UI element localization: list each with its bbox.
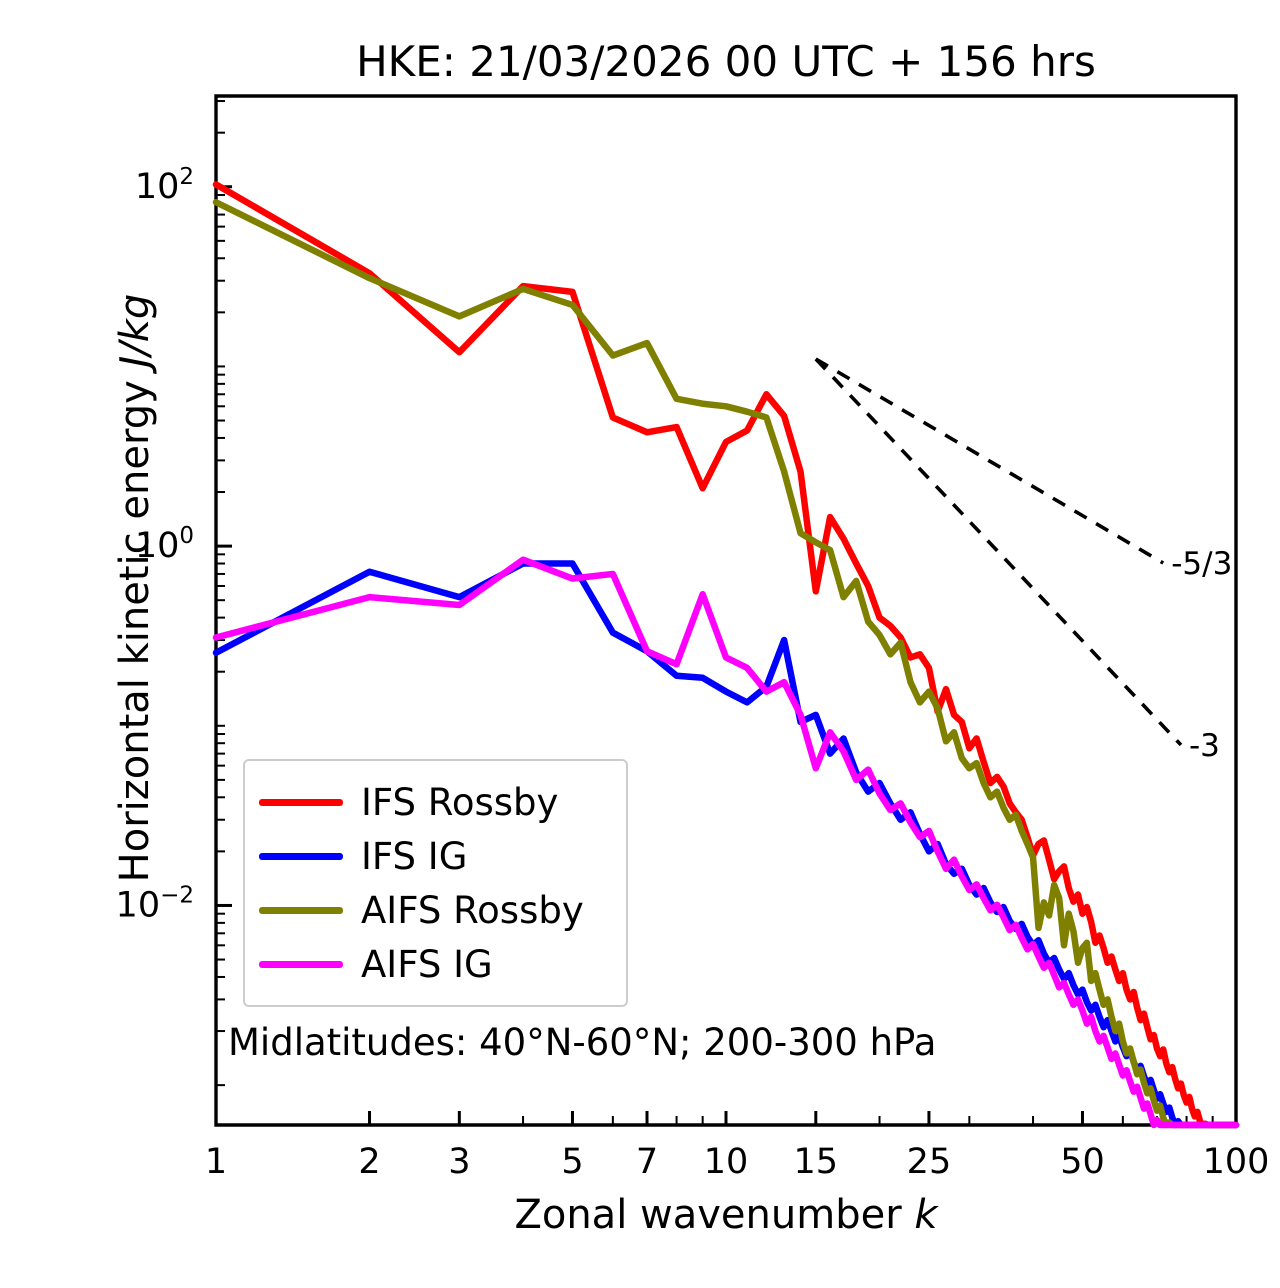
x-tick-label: 10 [704,1142,749,1182]
x-tick-label: 15 [794,1142,839,1182]
y-axis-label-main: Horizontal kinetic energy [112,368,158,883]
y-axis-label: Horizontal kinetic energy J/kg [112,148,158,1028]
slope-line--5-3 [816,359,1163,563]
chart-plot: 123571015255010010210010−2-5/3-3 [0,0,1280,1288]
x-tick-label: 7 [636,1142,658,1182]
legend-swatch-ifs-ig [259,853,343,860]
x-tick-label: 2 [358,1142,380,1182]
legend-label-ifs-rossby: IFS Rossby [361,784,558,821]
x-axis-label-symbol: k [914,1192,937,1238]
reference-slope-group [816,359,1181,745]
legend-item[interactable]: AIFS IG [259,937,610,991]
figure-canvas: HKE: 21/03/2026 00 UTC + 156 hrs 1235710… [0,0,1280,1288]
slope-line--3 [816,359,1181,745]
y-axis-label-symbol: J/kg [112,294,158,368]
x-axis-label: Zonal wavenumber k [216,1192,1236,1238]
legend-swatch-ifs-rossby [259,799,343,806]
legend-item[interactable]: AIFS Rossby [259,883,610,937]
legend-item[interactable]: IFS Rossby [259,775,610,829]
x-tick-label: 1 [205,1142,227,1182]
legend-label-aifs-rossby: AIFS Rossby [361,892,584,929]
legend-label-ifs-ig: IFS IG [361,838,467,875]
x-tick-label: 100 [1203,1142,1270,1182]
x-tick-label: 50 [1060,1142,1105,1182]
legend-swatch-aifs-rossby [259,907,343,914]
x-tick-label: 5 [561,1142,583,1182]
x-tick-label: 25 [907,1142,952,1182]
legend-label-aifs-ig: AIFS IG [361,946,493,983]
x-axis-label-main: Zonal wavenumber [514,1192,914,1238]
slope-label--3: -3 [1189,728,1220,764]
x-tick-label: 3 [448,1142,470,1182]
chart-annotation: Midlatitudes: 40°N-60°N; 200-300 hPa [228,1021,936,1064]
legend-swatch-aifs-ig [259,961,343,968]
slope-label--5-3: -5/3 [1171,546,1232,582]
legend-item[interactable]: IFS IG [259,829,610,883]
legend: IFS Rossby IFS IG AIFS Rossby AIFS IG [243,759,628,1007]
